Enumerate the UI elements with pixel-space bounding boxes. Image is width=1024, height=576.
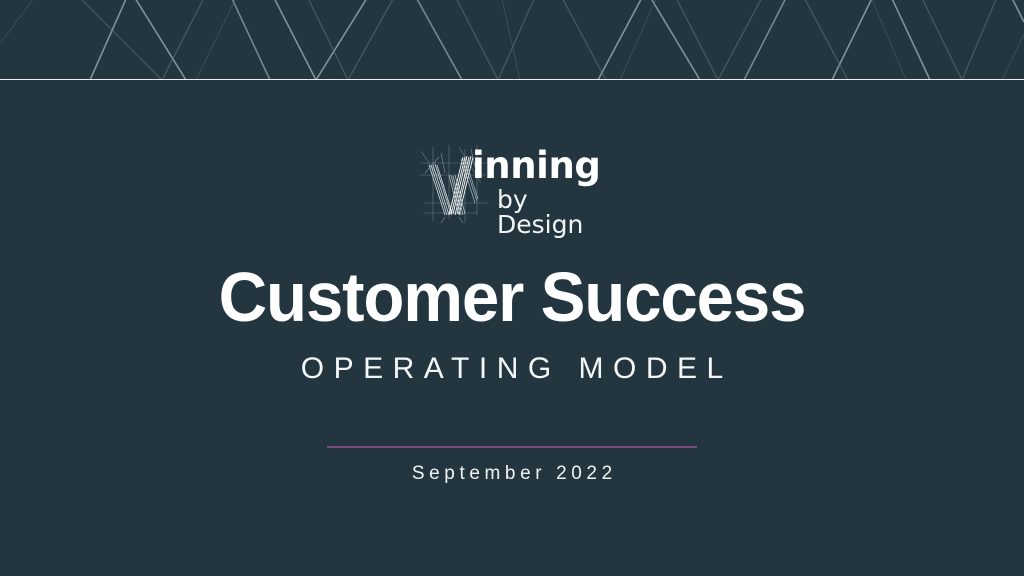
top-decorative-band xyxy=(0,0,1024,80)
slide-subtitle: OPERATING MODEL xyxy=(0,354,1024,384)
zigzag-line-pattern-icon xyxy=(0,0,1024,80)
accent-divider xyxy=(327,446,697,448)
band-bottom-rule xyxy=(0,79,1024,80)
brand-logo: inning by Design xyxy=(0,144,1024,224)
logo-tagline: by Design xyxy=(497,187,605,237)
slide-title: Customer Success xyxy=(20,262,1003,332)
title-slide: inning by Design Customer Success OPERAT… xyxy=(0,0,1024,576)
logo-wordmark: inning xyxy=(472,147,600,184)
slide-date: September 2022 xyxy=(0,464,1024,483)
headline-block: Customer Success OPERATING MODEL xyxy=(0,262,1024,384)
